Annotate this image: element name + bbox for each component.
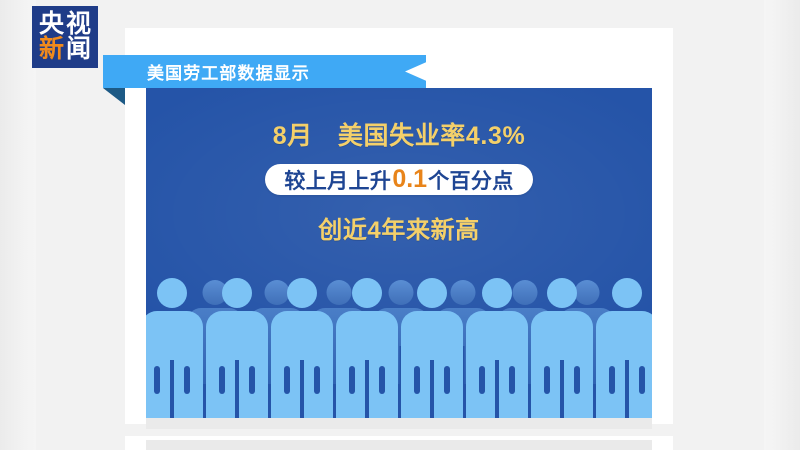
person-arm-right <box>444 366 450 394</box>
page-gutter-right <box>764 0 800 450</box>
person-figure <box>531 278 593 418</box>
ribbon-label: 美国劳工部数据显示 <box>103 59 310 84</box>
logo-char-wen: 闻 <box>65 37 92 62</box>
infographic-page: 央 视 新 闻 8月 美国失业率4.3% 较上月上升0.1个百分点 <box>0 0 800 450</box>
person-figure <box>596 278 653 418</box>
logo-line-2: 新 闻 <box>38 37 92 62</box>
person-head-icon <box>547 278 577 308</box>
person-leg-split <box>235 360 239 418</box>
person-leg-split <box>560 360 564 418</box>
person-leg-split <box>430 360 434 418</box>
person-figure <box>466 278 528 418</box>
person-figure <box>401 278 463 418</box>
crowd-front-row <box>146 278 652 418</box>
person-head-icon <box>157 278 187 308</box>
person-arm-left <box>154 366 160 394</box>
pill-row: 较上月上升0.1个百分点 <box>146 164 652 195</box>
logo-char-xin: 新 <box>38 37 65 62</box>
person-figure <box>206 278 268 418</box>
next-card-preview[interactable] <box>125 436 673 450</box>
person-head-icon <box>352 278 382 308</box>
page-gutter-left <box>0 0 36 450</box>
person-leg-split <box>170 360 174 418</box>
person-arm-right <box>574 366 580 394</box>
logo-char-shi: 视 <box>65 12 92 37</box>
person-arm-left <box>284 366 290 394</box>
change-pill: 较上月上升0.1个百分点 <box>265 164 532 195</box>
person-arm-left <box>544 366 550 394</box>
headline-rate-value: 4.3% <box>466 122 525 150</box>
logo-line-1: 央 视 <box>38 12 92 37</box>
ribbon-body: 美国劳工部数据显示 <box>103 55 426 88</box>
person-body-icon <box>146 311 203 418</box>
person-leg-split <box>625 360 629 418</box>
ribbon-banner: 美国劳工部数据显示 <box>103 55 426 88</box>
person-figure <box>271 278 333 418</box>
person-head-icon <box>482 278 512 308</box>
person-arm-right <box>314 366 320 394</box>
person-leg-split <box>300 360 304 418</box>
headline-line-3: 创近4年来新高 <box>146 210 652 245</box>
person-head-icon <box>222 278 252 308</box>
next-card-strip <box>146 440 652 450</box>
person-arm-right <box>509 366 515 394</box>
person-head-icon <box>417 278 447 308</box>
person-head-icon <box>612 278 642 308</box>
person-figure <box>146 278 203 418</box>
headline-block: 8月 美国失业率4.3% 较上月上升0.1个百分点 创近4年来新高 <box>146 116 652 245</box>
headline-month: 8月 <box>273 122 313 150</box>
ribbon-fold-tail <box>103 88 125 105</box>
pill-prefix: 较上月上升 <box>284 165 391 195</box>
person-leg-split <box>365 360 369 418</box>
person-arm-right <box>249 366 255 394</box>
pill-value: 0.1 <box>391 165 428 194</box>
person-leg-split <box>495 360 499 418</box>
headline-line-1: 8月 美国失业率4.3% <box>146 116 652 152</box>
cctv-news-logo[interactable]: 央 视 新 闻 <box>32 6 98 68</box>
hero-floor-strip <box>146 418 652 429</box>
person-arm-left <box>349 366 355 394</box>
person-arm-left <box>479 366 485 394</box>
person-arm-left <box>219 366 225 394</box>
person-figure <box>336 278 398 418</box>
logo-char-yang: 央 <box>38 12 65 37</box>
person-arm-left <box>414 366 420 394</box>
crowd-pictogram <box>146 248 652 418</box>
person-arm-right <box>184 366 190 394</box>
pill-suffix: 个百分点 <box>428 165 514 195</box>
person-arm-left <box>609 366 615 394</box>
person-arm-right <box>379 366 385 394</box>
person-arm-right <box>639 366 645 394</box>
person-head-icon <box>287 278 317 308</box>
hero-panel: 8月 美国失业率4.3% 较上月上升0.1个百分点 创近4年来新高 <box>146 88 652 418</box>
headline-label: 美国失业率 <box>338 122 466 150</box>
